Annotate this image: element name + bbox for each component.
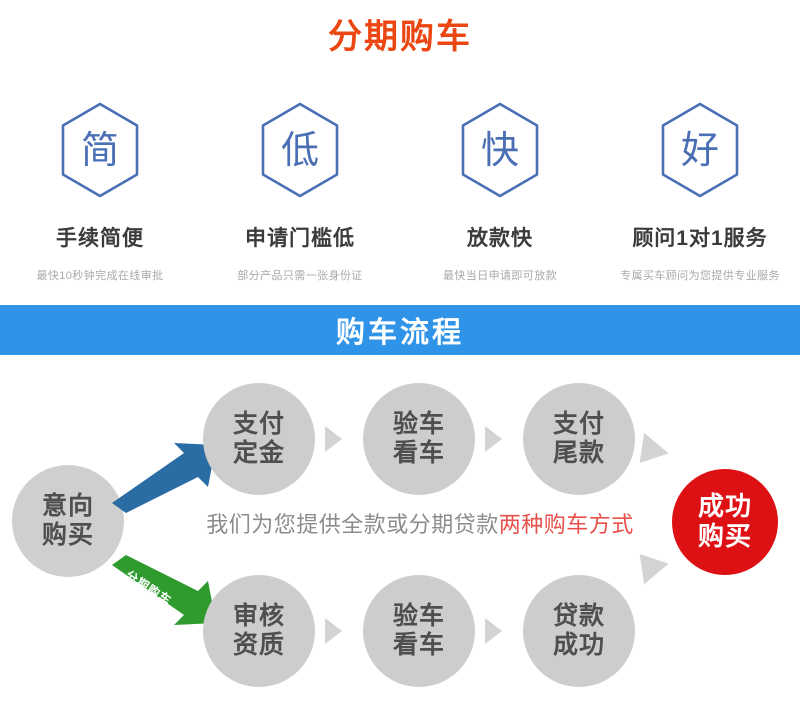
flow-node-bottom-3-line1: 贷款 [553,602,605,631]
flow-node-top-3-line2: 尾款 [553,439,605,468]
flow-arrow-converge-bottom-icon [627,544,668,584]
flow-middle-note-plain: 我们为您提供全款或分期贷款 [206,512,499,537]
flow-node-top-2-line2: 看车 [393,439,445,468]
hexagon-glyph-2: 低 [281,132,319,170]
flow-arrow-bottom-2-icon [485,618,502,644]
flow-node-bottom-2: 验车 看车 [363,575,475,687]
feature-subtitle-3: 最快当日申请即可放款 [443,267,557,283]
flow-node-intent-line1: 意向 [42,492,94,521]
purchase-flow-diagram: 意向 购买 全款购车 分期购车 支付 定金 验车 看车 支付 尾款 审核 资质 … [0,355,800,718]
hexagon-icon-3: 快 [451,100,549,200]
flow-node-top-2: 验车 看车 [363,383,475,495]
feature-subtitle-2: 部分产品只需一张身份证 [237,267,362,283]
page-title: 分期购车 [0,14,800,60]
flow-node-bottom-1: 审核 资质 [203,575,315,687]
flow-node-top-1-line2: 定金 [233,439,285,468]
feature-title-4: 顾问1对1服务 [632,222,767,252]
feature-title-2: 申请门槛低 [245,222,355,252]
hexagon-glyph-3: 快 [481,132,519,170]
feature-subtitle-1: 最快10秒钟完成在线审批 [36,267,163,283]
features-row: 简 手续简便 最快10秒钟完成在线审批 低 申请门槛低 部分产品只需一张身份证 … [0,100,800,283]
section-banner: 购车流程 [0,305,800,355]
flow-node-bottom-3-line2: 成功 [553,631,605,660]
feature-item-2: 低 申请门槛低 部分产品只需一张身份证 [200,100,400,283]
hexagon-glyph-1: 简 [81,132,119,170]
flow-node-bottom-3: 贷款 成功 [523,575,635,687]
flow-node-top-1: 支付 定金 [203,383,315,495]
flow-node-intent-line2: 购买 [42,521,94,550]
feature-item-4: 好 顾问1对1服务 专属买车顾问为您提供专业服务 [600,100,800,283]
flow-arrow-top-2-icon [485,426,502,452]
flow-node-bottom-1-line1: 审核 [233,602,285,631]
flow-node-top-3: 支付 尾款 [523,383,635,495]
flow-node-top-1-line1: 支付 [233,410,285,439]
hexagon-glyph-4: 好 [681,132,719,170]
feature-title-3: 放款快 [467,222,533,252]
hexagon-icon-1: 简 [51,100,149,200]
feature-title-1: 手续简便 [56,222,144,252]
flow-middle-note-highlight: 两种购车方式 [499,512,634,537]
flow-node-success-line1: 成功 [698,492,752,522]
hexagon-icon-4: 好 [651,100,749,200]
flow-node-bottom-2-line1: 验车 [393,602,445,631]
flow-node-success: 成功 购买 [672,469,778,575]
flow-node-bottom-1-line2: 资质 [233,631,285,660]
hexagon-icon-2: 低 [251,100,349,200]
flow-node-top-2-line1: 验车 [393,410,445,439]
flow-node-top-3-line1: 支付 [553,410,605,439]
flow-middle-note: 我们为您提供全款或分期贷款两种购车方式 [190,507,650,539]
section-banner-title: 购车流程 [336,309,464,351]
flow-arrow-bottom-1-icon [325,618,342,644]
flow-node-success-line2: 购买 [698,522,752,552]
flow-node-bottom-2-line2: 看车 [393,631,445,660]
feature-item-3: 快 放款快 最快当日申请即可放款 [400,100,600,283]
feature-subtitle-4: 专属买车顾问为您提供专业服务 [620,267,780,283]
flow-arrow-top-1-icon [325,426,342,452]
feature-item-1: 简 手续简便 最快10秒钟完成在线审批 [0,100,200,283]
flow-node-intent: 意向 购买 [12,465,124,577]
